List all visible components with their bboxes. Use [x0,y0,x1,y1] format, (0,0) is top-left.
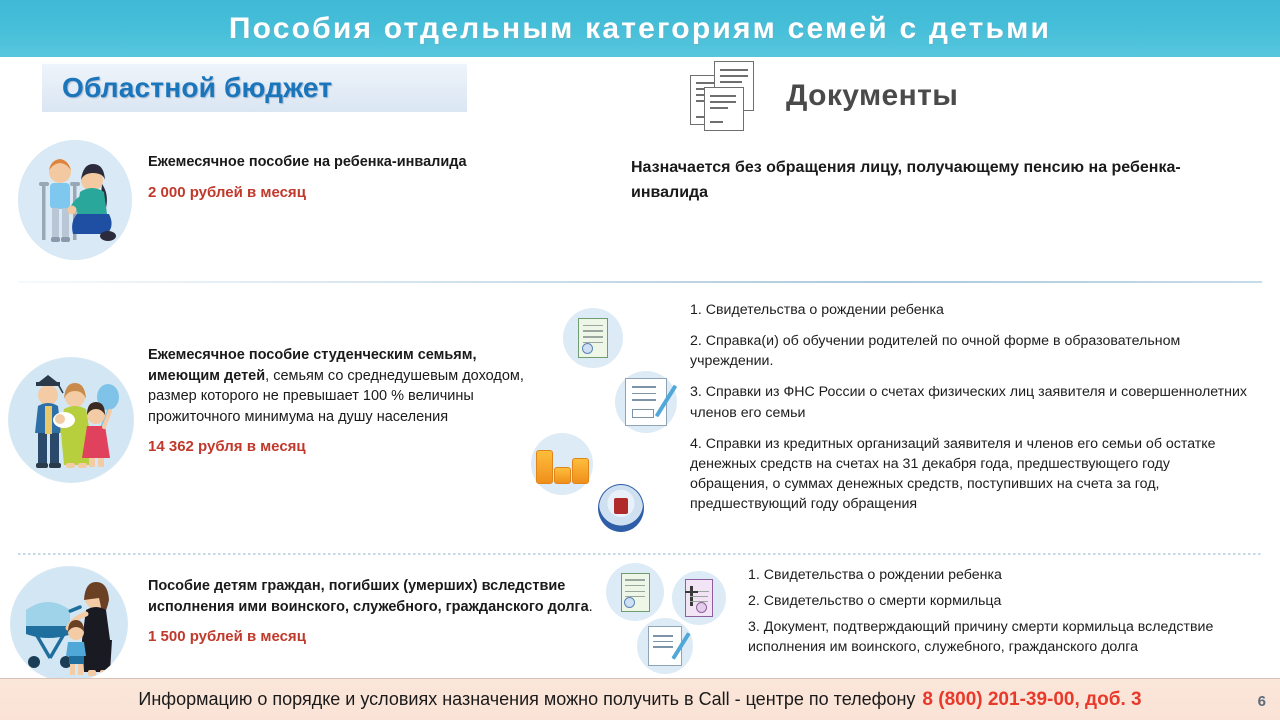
benefit-amount: 14 362 рубля в месяц [148,438,548,455]
document-list-item: 3. Справки из ФНС России о счетах физиче… [690,382,1252,422]
budget-label: Областной бюджет [62,72,332,104]
benefit-title: Ежемесячное пособие студенческим семьям,… [148,345,548,427]
slide-title-bar: Пособия отдельным категориям семей с дет… [0,0,1280,57]
document-list-item: 2. Свидетельство о смерти кормильца [748,591,1258,611]
section-divider-1 [18,281,1262,283]
section-divider-2 [18,553,1262,555]
benefit-title-regular: . [589,599,593,615]
benefit-title: Пособие детям граждан, погибших (умерших… [148,576,598,617]
mother-with-stroller-and-child-icon [10,566,128,682]
benefit-title-bold: Пособие детям граждан, погибших (умерших… [148,578,589,615]
birth-certificate-icon [563,308,623,368]
benefit-title-bold: Ежемесячное пособие на ребенка-инвалида [148,154,467,170]
document-list-item: 4. Справки из кредитных организаций заяв… [690,434,1252,515]
benefit-title: Ежемесячное пособие на ребенка-инвалида [148,152,568,173]
document-with-pen-icon [615,371,677,433]
child-with-crutches-and-caregiver-icon [18,140,132,260]
document-list-item: 1. Свидетельства о рождении ребенка [690,300,1252,320]
death-certificate-icon [672,571,726,625]
documents-stack-icon [690,61,764,131]
coins-stack-icon [531,433,593,495]
birth-certificate-icon [606,563,664,621]
page-number: 6 [1258,693,1266,710]
document-list-item: 1. Свидетельства о рождении ребенка [748,565,1258,585]
document-with-pen-icon [637,618,693,674]
student-family-with-children-icon [8,357,134,483]
documents-header: Документы [690,61,958,131]
footer-bar: Информацию о порядке и условиях назначен… [0,678,1280,720]
document-list-item: 2. Справка(и) об обучении родителей по о… [690,331,1252,371]
documents-label: Документы [786,79,958,113]
federal-tax-service-emblem-icon [591,478,651,538]
benefit-amount: 1 500 рублей в месяц [148,628,598,645]
subheader-row: Областной бюджет [0,57,1280,135]
benefit-amount: 2 000 рублей в месяц [148,184,568,201]
slide-root: Пособия отдельным категориям семей с дет… [0,0,1280,720]
footer-text: Информацию о порядке и условиях назначен… [138,689,915,710]
document-list-item: 3. Документ, подтверждающий причину смер… [748,617,1258,657]
page-title: Пособия отдельным категориям семей с дет… [229,12,1051,46]
benefit-note: Назначается без обращения лицу, получающ… [631,156,1246,206]
budget-chip: Областной бюджет [42,64,467,112]
footer-phone[interactable]: 8 (800) 201-39-00, доб. 3 [922,689,1141,711]
